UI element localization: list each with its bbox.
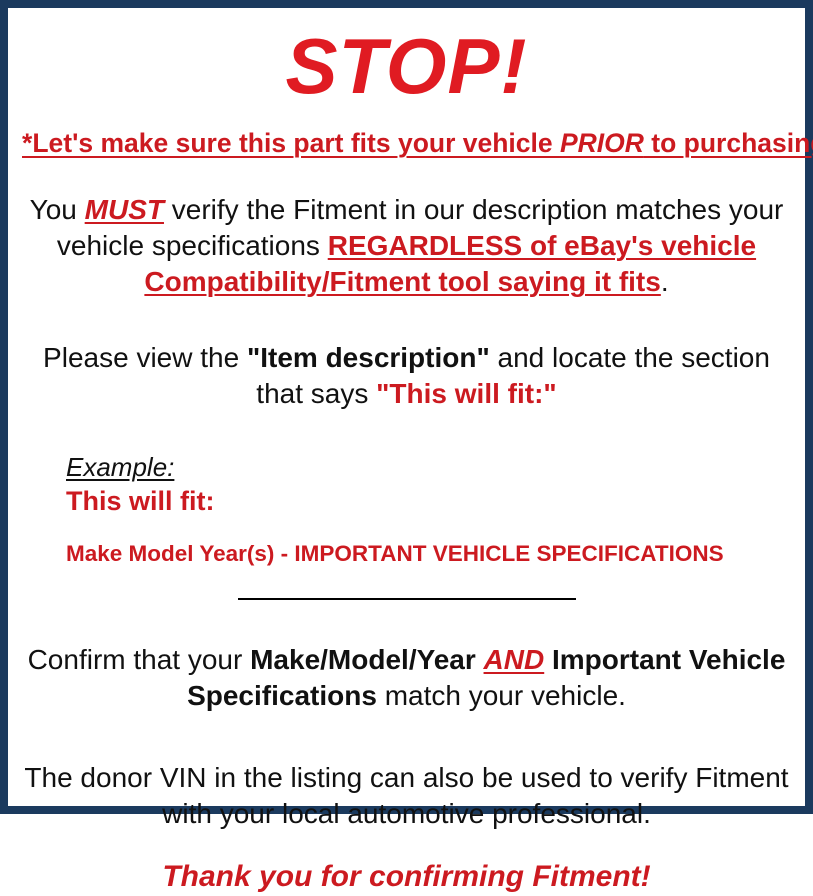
paragraph-confirm: Confirm that your Make/Model/Year AND Im… [22,642,791,714]
example-label: Example: [66,452,174,482]
must-seg1: You [30,194,85,225]
divider-wrapper [22,590,791,608]
subtitle-emphasis-prior: PRIOR [560,128,644,158]
this-will-fit-quote: "This will fit:" [376,378,557,409]
must-seg3: . [661,266,669,297]
example-spec-line: Make Model Year(s) - IMPORTANT VEHICLE S… [66,540,791,568]
example-this-will-fit: This will fit: [66,484,791,518]
view-seg1: Please view the [43,342,247,373]
item-description-quote: "Item description" [247,342,490,373]
make-model-year-emphasis: Make/Model/Year [250,644,476,675]
fitment-notice-card: STOP! *Let's make sure this part fits yo… [0,0,813,814]
must-emphasis: MUST [85,194,164,225]
subtitle-prefix: *Let's make sure this part fits your veh… [22,128,560,158]
horizontal-rule [238,598,576,600]
subtitle-suffix: to purchasing* [644,128,813,158]
and-emphasis: AND [484,644,545,675]
paragraph-donor-vin: The donor VIN in the listing can also be… [22,760,791,832]
paragraph-must-verify: You MUST verify the Fitment in our descr… [22,192,791,300]
confirm-seg2 [476,644,484,675]
closing-thank-you: Thank you for confirming Fitment! [22,858,791,896]
example-block: Example: This will fit: Make Model Year(… [22,452,791,568]
stop-headline: STOP! [22,18,791,114]
confirm-seg4: match your vehicle. [377,680,626,711]
confirm-seg3 [544,644,552,675]
example-label-row: Example: [66,452,791,482]
paragraph-item-description: Please view the "Item description" and l… [22,340,791,412]
subtitle-banner: *Let's make sure this part fits your veh… [22,126,791,160]
confirm-seg1: Confirm that your [28,644,251,675]
